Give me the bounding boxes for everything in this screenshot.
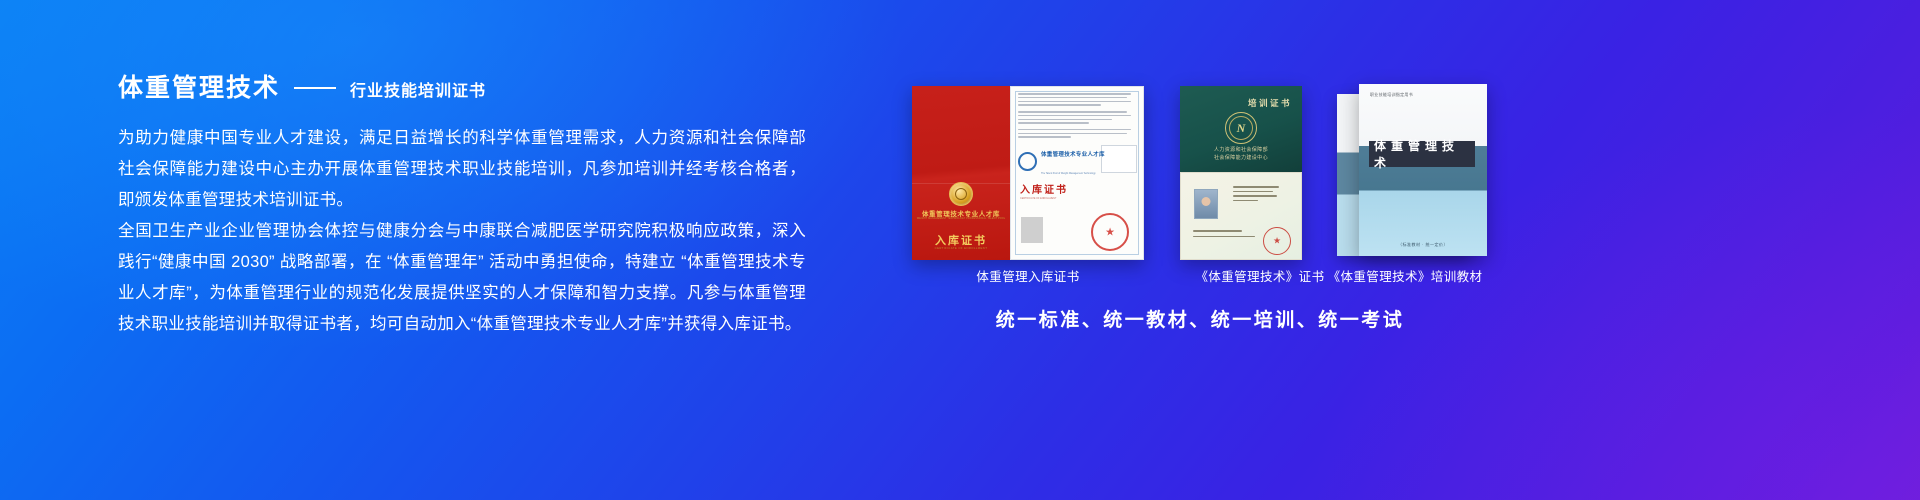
textbook-footer-line: （标准教材 · 统一定价） xyxy=(1359,242,1487,248)
title-divider-dash xyxy=(294,87,336,89)
page-certificate-title: 入库证书 xyxy=(1020,181,1136,196)
blue-seal-icon xyxy=(1018,152,1037,171)
textbook-image: 职业技能培训指定用书 体重管理技术 （标准教材 · 统一定价） xyxy=(1337,84,1487,260)
textbook-publisher-line: 职业技能培训指定用书 xyxy=(1370,92,1413,98)
cover-issuer: 人力资源和社会保障部 社会保障能力建设中心 xyxy=(1180,146,1302,162)
cover-certificate-title-en: CERTIFICATE OF ENROLLMENT xyxy=(912,246,1010,250)
page-title: 体重管理技术 xyxy=(118,76,280,101)
certificate-gallery: 体重管理技术专业人才库 WEIGHT MANAGEMENT TECHNOLOGY… xyxy=(900,82,1500,262)
holder-photo xyxy=(1194,189,1218,219)
cert-id-page xyxy=(1180,172,1302,260)
certificate-captions: 体重管理入库证书 《体重管理技术》证书 《体重管理技术》培训教材 xyxy=(900,266,1500,285)
page-subtitle: 行业技能培训证书 xyxy=(350,84,486,100)
cover-org-name-en: WEIGHT MANAGEMENT TECHNOLOGY PROFESSIONA… xyxy=(917,217,1005,220)
page-org-name: 体重管理技术专业人才库 xyxy=(1041,152,1105,158)
page-certificate-title-en: CERTIFICATE OF ENROLLMENT xyxy=(1020,197,1136,200)
page-header-row: 体重管理技术专业人才库 The Talent Pool of Weight Ma… xyxy=(1018,143,1136,179)
issuer-line-2: 社会保障能力建设中心 xyxy=(1214,155,1268,161)
intro-text-block: 体重管理技术 行业技能培训证书 为助力健康中国专业人才建设，满足日益增长的科学体… xyxy=(118,76,818,340)
page-photo-placeholder xyxy=(1021,217,1043,243)
cert-inner-page: 体重管理技术专业人才库 The Talent Pool of Weight Ma… xyxy=(1010,86,1144,260)
page-org-name-en: The Talent Pool of Weight Management Tec… xyxy=(1041,172,1096,175)
gold-emblem-icon xyxy=(949,182,973,206)
intro-paragraph-1: 为助力健康中国专业人才建设，满足日益增长的科学体重管理需求，人力资源和社会保障部… xyxy=(118,123,806,216)
red-official-seal-icon xyxy=(1263,227,1291,255)
emblem-letter: N xyxy=(1237,121,1246,136)
caption-textbook: 《体重管理技术》培训教材 xyxy=(1310,266,1500,285)
promo-banner: 体重管理技术 行业技能培训证书 为助力健康中国专业人才建设，满足日益增长的科学体… xyxy=(0,0,1920,500)
issuer-line-1: 人力资源和社会保障部 xyxy=(1214,147,1268,153)
textbook-title: 体重管理技术 xyxy=(1369,137,1475,171)
page-paragraph-cn xyxy=(1018,93,1136,106)
tagline: 统一标准、统一教材、统一培训、统一考试 xyxy=(900,305,1500,332)
intro-paragraph-2: 全国卫生产业企业管理协会体控与健康分会与中康联合减肥医学研究院积极响应政策，深入… xyxy=(118,216,806,340)
n-emblem-icon: N xyxy=(1225,112,1257,144)
cert-green-cover: 培训证书 N 人力资源和社会保障部 社会保障能力建设中心 xyxy=(1180,86,1302,172)
certificate-in-library-image: 体重管理技术专业人才库 WEIGHT MANAGEMENT TECHNOLOGY… xyxy=(912,86,1144,260)
certificate-row: 体重管理技术专业人才库 WEIGHT MANAGEMENT TECHNOLOGY… xyxy=(900,82,1500,262)
textbook-title-band: 体重管理技术 xyxy=(1369,141,1475,167)
cert-red-cover: 体重管理技术专业人才库 WEIGHT MANAGEMENT TECHNOLOGY… xyxy=(912,86,1010,260)
certificate-training-image: 培训证书 N 人力资源和社会保障部 社会保障能力建设中心 xyxy=(1180,86,1302,260)
red-official-seal-icon xyxy=(1091,213,1129,251)
textbook-front-cover: 职业技能培训指定用书 体重管理技术 （标准教材 · 统一定价） xyxy=(1359,84,1487,256)
cover-training-title: 培训证书 xyxy=(1180,97,1292,109)
page-paragraph-en xyxy=(1018,111,1136,124)
caption-in-library: 体重管理入库证书 xyxy=(912,266,1144,285)
heading-row: 体重管理技术 行业技能培训证书 xyxy=(118,76,818,101)
holder-detail-lines xyxy=(1233,186,1285,204)
page-paragraph-cn-2 xyxy=(1018,129,1136,138)
